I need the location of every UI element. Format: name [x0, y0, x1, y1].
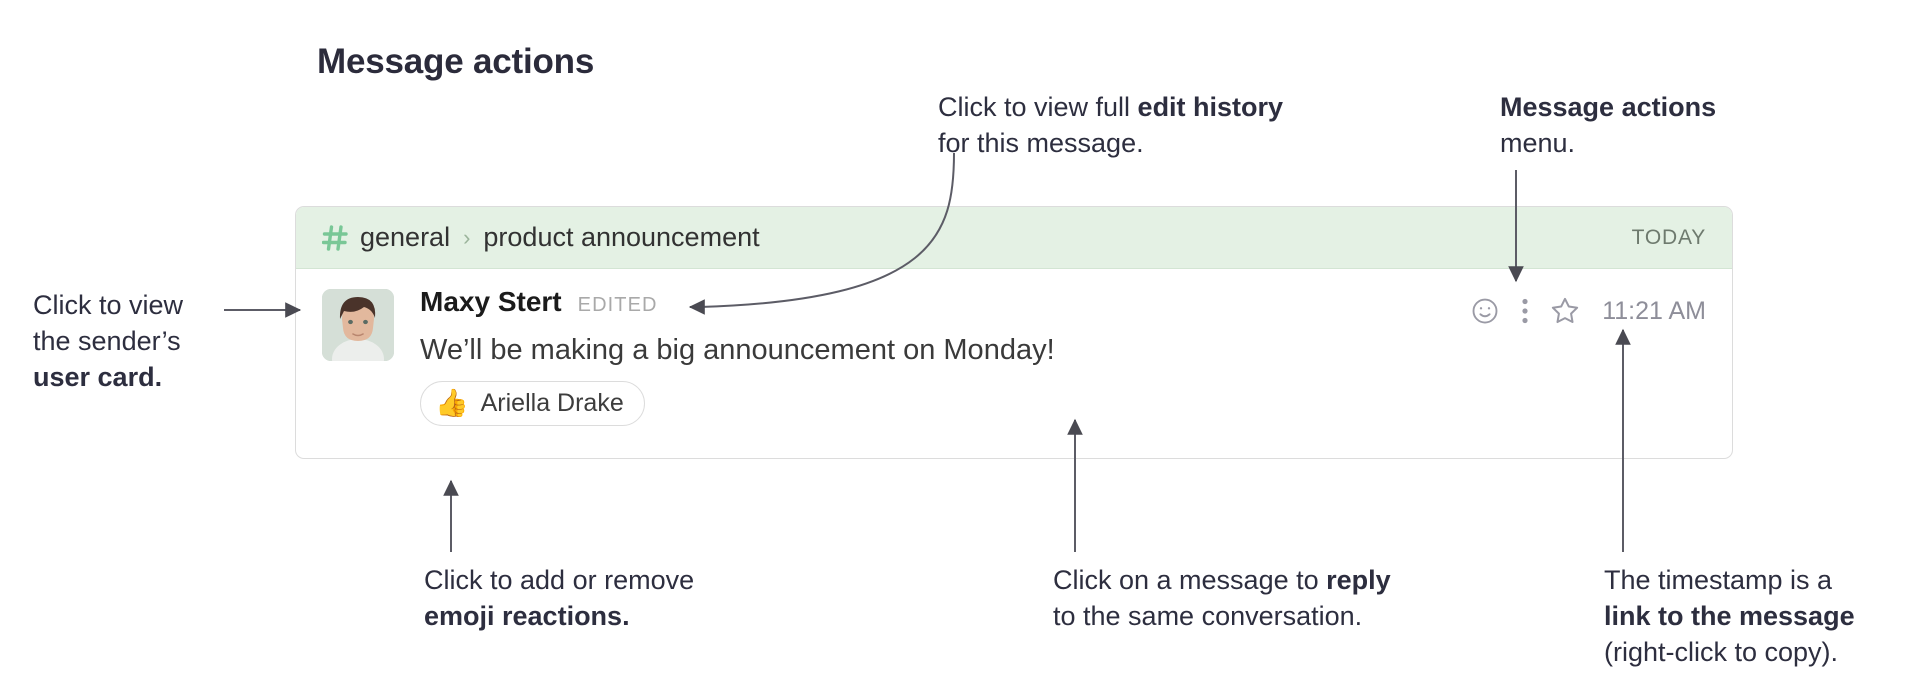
annotation-user-card: Click to view the sender’s user card.: [33, 287, 183, 395]
page-title: Message actions: [317, 42, 594, 82]
annotation-edit-history-line2: for this message.: [938, 125, 1283, 161]
date-label: TODAY: [1632, 226, 1706, 250]
edited-badge[interactable]: EDITED: [578, 294, 658, 317]
annotation-user-card-line1: Click to view: [33, 287, 183, 323]
annotation-reply-line1-bold: reply: [1326, 565, 1391, 595]
annotation-reply-line2: to the same conversation.: [1053, 598, 1391, 634]
annotation-message-actions-line2: menu.: [1500, 125, 1716, 161]
thumbs-up-icon: 👍: [435, 390, 469, 417]
avatar-image: [322, 289, 394, 361]
annotation-edit-history-line1-bold: edit history: [1138, 92, 1284, 122]
message-actions-bar: 11:21 AM: [1462, 291, 1706, 331]
annotation-message-actions-line1: Message actions: [1500, 92, 1716, 122]
message-actions-menu-icon[interactable]: [1508, 291, 1542, 331]
annotation-reply-line1-plain: Click on a message to: [1053, 565, 1326, 595]
annotation-edit-history-line1-plain: Click to view full: [938, 92, 1138, 122]
reaction-label: Ariella Drake: [481, 389, 624, 418]
reaction-chip[interactable]: 👍 Ariella Drake: [420, 381, 645, 426]
page-root: Message actions Click to view the sender…: [0, 0, 1924, 696]
card-header: general › product announcement TODAY: [296, 207, 1732, 269]
annotation-reply: Click on a message to reply to the same …: [1053, 562, 1391, 634]
annotation-message-actions: Message actions menu.: [1500, 89, 1716, 161]
sender-name[interactable]: Maxy Stert: [420, 286, 562, 318]
annotation-timestamp-link-line3: (right-click to copy).: [1604, 634, 1855, 670]
annotation-emoji-reactions-line2: emoji reactions.: [424, 601, 630, 631]
message-timestamp[interactable]: 11:21 AM: [1602, 297, 1706, 326]
hash-icon: [322, 224, 348, 252]
annotation-user-card-line2: the sender’s: [33, 323, 183, 359]
message-card: general › product announcement TODAY: [295, 206, 1733, 459]
annotation-emoji-reactions: Click to add or remove emoji reactions.: [424, 562, 694, 634]
avatar[interactable]: [322, 289, 394, 361]
breadcrumb-channel[interactable]: general: [360, 222, 450, 253]
star-message-icon[interactable]: [1542, 291, 1588, 331]
annotation-timestamp-link-line2: link to the message: [1604, 601, 1855, 631]
breadcrumb-topic[interactable]: product announcement: [483, 222, 759, 253]
annotation-emoji-reactions-line1: Click to add or remove: [424, 562, 694, 598]
add-reaction-icon[interactable]: [1462, 291, 1508, 331]
message-row[interactable]: Maxy Stert EDITED We’ll be making a big …: [296, 269, 1732, 459]
annotation-user-card-line3: user card.: [33, 362, 162, 392]
chevron-right-icon: ›: [463, 227, 470, 249]
annotation-edit-history: Click to view full edit history for this…: [938, 89, 1283, 161]
annotation-timestamp-link: The timestamp is a link to the message (…: [1604, 562, 1855, 670]
annotation-timestamp-link-line1: The timestamp is a: [1604, 562, 1855, 598]
message-text[interactable]: We’ll be making a big announcement on Mo…: [420, 334, 1706, 367]
